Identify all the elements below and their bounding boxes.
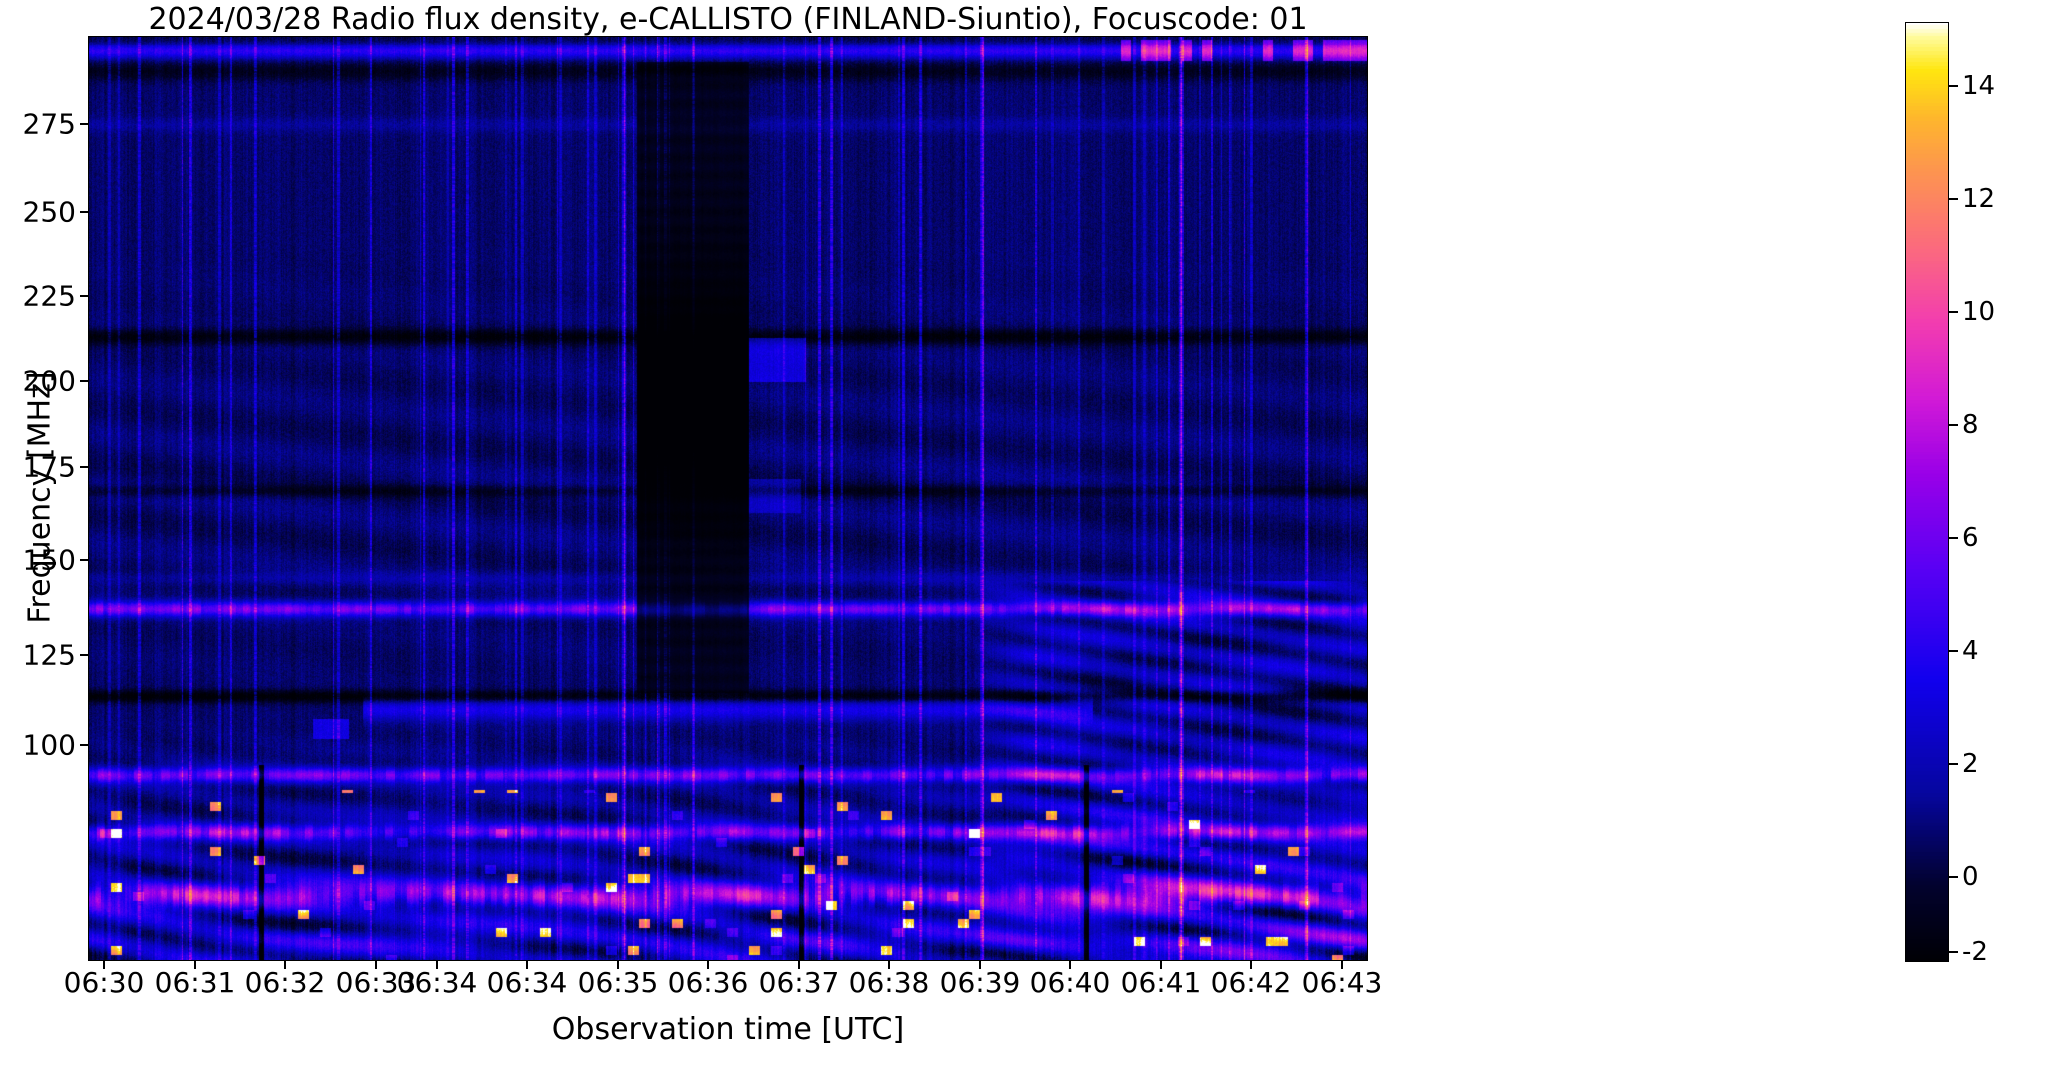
colorbar-label-wrapper: dB above background	[2018, 0, 2019, 1]
colorbar-tick-label: 8	[1962, 410, 1979, 440]
colorbar-tick-mark	[1949, 876, 1958, 878]
colorbar-tick-mark	[1949, 650, 1958, 652]
colorbar-tick-label: 10	[1962, 297, 1995, 327]
colorbar-tick-mark	[1949, 951, 1958, 953]
colorbar-tick-label: 0	[1962, 862, 1979, 892]
colorbar-tick-mark	[1949, 537, 1958, 539]
colorbar-tick-mark	[1949, 198, 1958, 200]
colorbar-tick-label: 12	[1962, 184, 1995, 214]
colorbar-tick-mark	[1949, 311, 1958, 313]
colorbar-ticks: 14121086420-2	[0, 0, 2066, 1067]
colorbar-tick-mark	[1949, 85, 1958, 87]
colorbar-tick-label: 2	[1962, 749, 1979, 779]
colorbar-tick-label: 14	[1962, 71, 1995, 101]
colorbar-tick-mark	[1949, 424, 1958, 426]
spectrogram-figure: 2024/03/28 Radio flux density, e-CALLIST…	[0, 0, 2066, 1067]
colorbar-tick-label: -2	[1962, 937, 1988, 967]
colorbar-tick-label: 4	[1962, 636, 1979, 666]
colorbar-tick-label: 6	[1962, 523, 1979, 553]
colorbar-tick-mark	[1949, 763, 1958, 765]
